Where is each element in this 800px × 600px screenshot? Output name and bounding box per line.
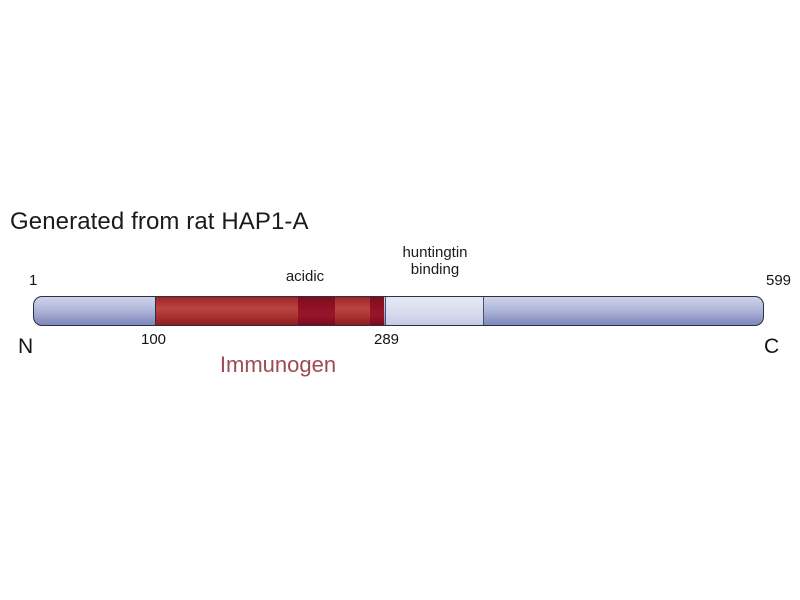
huntingtin-binding-domain-label: huntingtin binding xyxy=(380,244,490,278)
protein-bar-wrapper xyxy=(33,296,764,326)
huntingtin-binding-label-line2: binding xyxy=(380,261,490,278)
immunogen-caption: Immunogen xyxy=(178,352,378,378)
residue-label-start: 1 xyxy=(29,272,37,289)
acidic-domain-label: acidic xyxy=(255,268,355,285)
residue-label-end: 599 xyxy=(766,272,791,289)
huntingtin-binding-segment xyxy=(385,297,485,325)
protein-backbone-bar xyxy=(33,296,764,326)
c-terminus-label: C xyxy=(764,335,779,359)
huntingtin-binding-label-line1: huntingtin xyxy=(380,244,490,261)
protein-domain-figure: Generated from rat HAP1-A 1 599 acidic h… xyxy=(0,0,800,600)
acidic-segment-1 xyxy=(298,297,335,325)
figure-title: Generated from rat HAP1-A xyxy=(10,208,309,236)
immunogen-segment xyxy=(155,297,385,325)
n-terminus-label: N xyxy=(18,335,33,359)
residue-label-289: 289 xyxy=(374,331,399,348)
residue-label-100: 100 xyxy=(141,331,166,348)
acidic-segment-2 xyxy=(370,297,384,325)
